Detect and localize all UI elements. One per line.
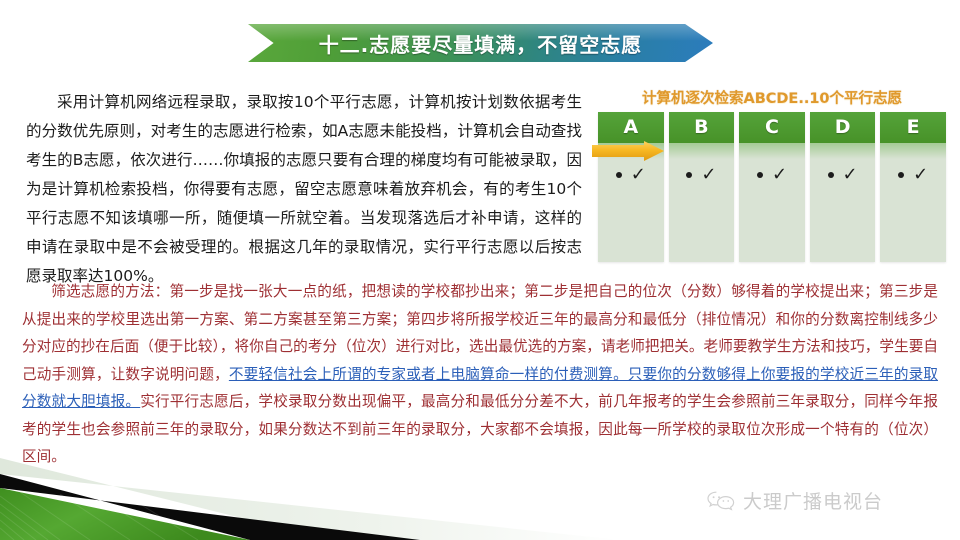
choice-card-marks: ✓ [880, 166, 946, 184]
paragraph-overview: 采用计算机网络远程录取，录取按10个平行志愿，计算机按计划数依据考生的分数优先原… [26, 88, 582, 291]
wechat-icon [706, 490, 736, 512]
diagram-title: 计算机逐次检索ABCDE..10个平行志愿 [596, 87, 948, 108]
bullet-icon [686, 172, 692, 178]
choice-card-header: A [598, 112, 664, 143]
choice-card-reflection [739, 143, 805, 159]
diagram-card-row: A ✓ B ✓ C [598, 112, 946, 262]
choice-card-reflection [880, 143, 946, 159]
choice-card-letter: A [623, 118, 638, 137]
choice-card-reflection [669, 143, 735, 159]
choice-card-letter: D [835, 118, 851, 137]
choice-card-c[interactable]: C ✓ [739, 112, 805, 262]
watermark-text: 大理广播电视台 [743, 487, 883, 514]
page-title: 十二.志愿要尽量填满，不留空志愿 [248, 24, 713, 62]
bullet-icon [898, 172, 904, 178]
choice-card-marks: ✓ [810, 166, 876, 184]
choice-card-header: D [810, 112, 876, 143]
choice-card-letter: C [765, 118, 779, 137]
check-icon: ✓ [913, 166, 928, 184]
arrow-right-icon [592, 141, 664, 161]
check-icon: ✓ [631, 166, 646, 184]
title-banner: 十二.志愿要尽量填满，不留空志愿 [248, 24, 713, 62]
choice-card-d[interactable]: D ✓ [810, 112, 876, 262]
choice-card-reflection [810, 143, 876, 159]
paragraph-method: 筛选志愿的方法：第一步是找一张大一点的纸，把想读的学校都抄出来；第二步是把自己的… [22, 278, 938, 471]
paragraph-method-part-two: 实行平行志愿后，学校录取分数出现偏平，最高分和最低分分差不大，前几年报考的学生会… [22, 393, 938, 465]
choice-card-marks: ✓ [598, 166, 664, 184]
bullet-icon [757, 172, 763, 178]
choice-card-marks: ✓ [739, 166, 805, 184]
choice-card-a[interactable]: A ✓ [598, 112, 664, 262]
choice-card-b[interactable]: B ✓ [669, 112, 735, 262]
choice-card-header: E [880, 112, 946, 143]
bullet-icon [828, 172, 834, 178]
parallel-choice-diagram: 计算机逐次检索ABCDE..10个平行志愿 A ✓ B [592, 84, 952, 270]
choice-card-header: C [739, 112, 805, 143]
choice-card-letter: E [907, 118, 920, 137]
choice-card-marks: ✓ [669, 166, 735, 184]
check-icon: ✓ [772, 166, 787, 184]
choice-card-letter: B [694, 118, 708, 137]
choice-card-e[interactable]: E ✓ [880, 112, 946, 262]
choice-card-header: B [669, 112, 735, 143]
watermark: 大理广播电视台 [706, 487, 883, 514]
slide-canvas: 十二.志愿要尽量填满，不留空志愿 采用计算机网络远程录取，录取按10个平行志愿，… [0, 0, 960, 540]
bullet-icon [616, 172, 622, 178]
check-icon: ✓ [843, 166, 858, 184]
check-icon: ✓ [701, 166, 716, 184]
